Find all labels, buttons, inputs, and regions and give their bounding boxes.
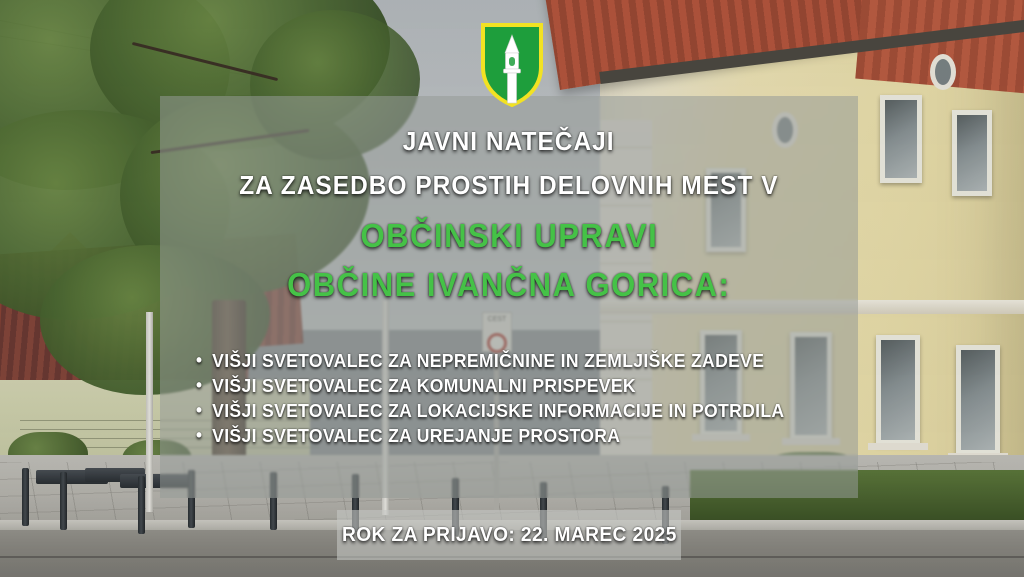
coat-of-arms-icon [481,23,543,107]
headline-line-4: OBČINE IVANČNA GORICA: [287,266,730,304]
list-item: VIŠJI SVETOVALEC ZA KOMUNALNI PRISPEVEK [196,373,784,398]
deadline-banner: ROK ZA PRIJAVO: 22. MAREC 2025 [337,510,681,560]
poster-canvas: CEST JAVNI NATEČAJI ZA ZASEDBO PROSTIH D… [0,0,1024,577]
headline-line-1: JAVNI NATEČAJI [403,126,615,157]
deadline-text: ROK ZA PRIJAVO: 22. MAREC 2025 [342,524,677,547]
headline-line-3: OBČINSKI UPRAVI [360,217,658,255]
list-item: VIŠJI SVETOVALEC ZA UREJANJE PROSTORA [196,423,784,448]
list-item: VIŠJI SVETOVALEC ZA LOKACIJSKE INFORMACI… [196,398,784,423]
poster-text-content: JAVNI NATEČAJI ZA ZASEDBO PROSTIH DELOVN… [160,96,858,498]
job-positions-list: VIŠJI SVETOVALEC ZA NEPREMIČNINE IN ZEML… [196,348,815,448]
headline-line-2: ZA ZASEDBO PROSTIH DELOVNIH MEST V [239,170,778,201]
list-item: VIŠJI SVETOVALEC ZA NEPREMIČNINE IN ZEML… [196,348,784,373]
